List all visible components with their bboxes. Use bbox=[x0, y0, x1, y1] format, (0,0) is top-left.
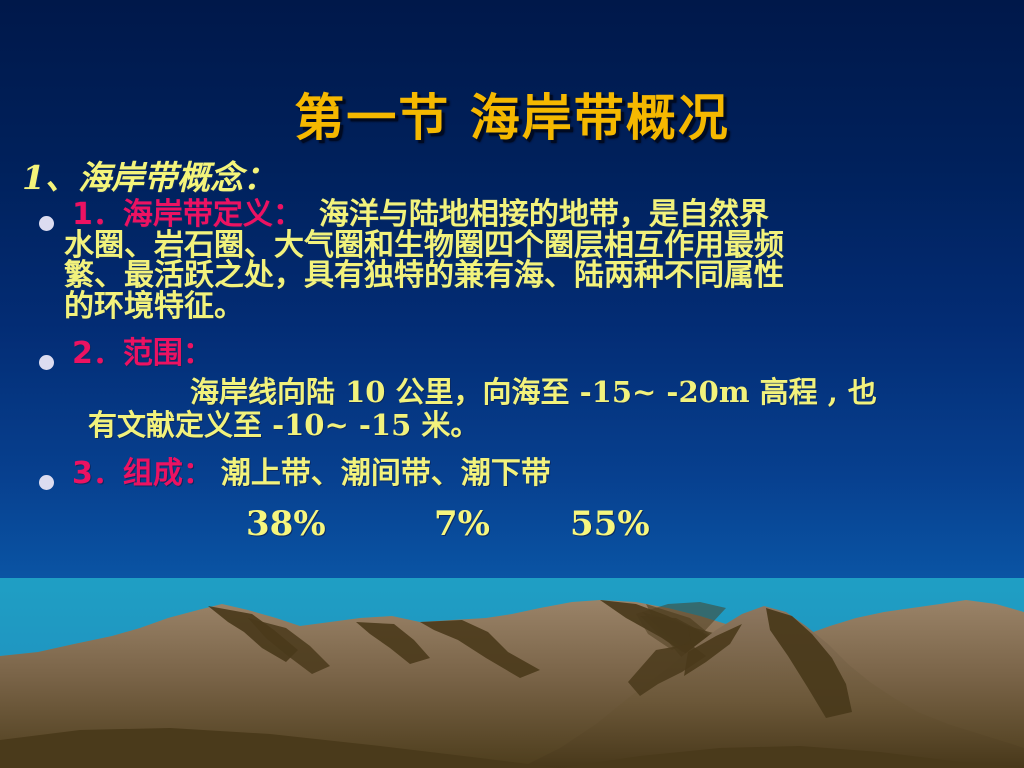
bullet-dot-icon bbox=[39, 475, 54, 490]
definition-line-3: 繁、最活跃之处，具有独特的兼有海、陆两种不同属性 bbox=[64, 261, 1014, 292]
range-detail-line-2: 有文献定义至 -10~ -15 米。 bbox=[88, 409, 1024, 441]
composition-value: 潮上带、潮间带、潮下带 bbox=[221, 456, 551, 491]
definition-line-1: 海洋与陆地相接的地带，是自然界 bbox=[319, 197, 769, 232]
list-item[interactable]: 1．海岸带定义：海洋与陆地相接的地带，是自然界 水圈、岩石圈、大气圈和生物圈四个… bbox=[36, 200, 1024, 324]
definition-line-4: 的环境特征。 bbox=[64, 292, 1014, 323]
coastal-landscape-illustration bbox=[0, 578, 1024, 768]
percent-intertidal: 7% bbox=[434, 504, 490, 544]
slide-body: 1、海岸带概念： 1．海岸带定义：海洋与陆地相接的地带，是自然界 水圈、岩石圈、… bbox=[0, 160, 1024, 550]
bullet-dot-icon bbox=[39, 355, 54, 370]
percentage-row: 38% 7% 55% bbox=[0, 504, 1024, 550]
presentation-slide: 第一节 海岸带概况 1、海岸带概念： 1．海岸带定义：海洋与陆地相接的地带，是自… bbox=[0, 0, 1024, 768]
bullet-dot-icon bbox=[39, 216, 54, 231]
composition-label: 3．组成： bbox=[72, 456, 213, 491]
page-title: 第一节 海岸带概况 bbox=[0, 78, 1024, 150]
composition-block: 3．组成：潮上带、潮间带、潮下带 bbox=[72, 459, 1024, 490]
definition-label: 1．海岸带定义： bbox=[72, 197, 303, 232]
definition-block: 1．海岸带定义：海洋与陆地相接的地带，是自然界 水圈、岩石圈、大气圈和生物圈四个… bbox=[72, 200, 1024, 324]
list-item[interactable]: 2．范围： bbox=[36, 339, 1024, 370]
range-block: 2．范围： bbox=[72, 339, 1024, 370]
landscape-svg bbox=[0, 578, 1024, 768]
definition-line-2: 水圈、岩石圈、大气圈和生物圈四个圈层相互作用最频 bbox=[64, 231, 1014, 262]
section-heading: 1、海岸带概念： bbox=[22, 160, 1024, 196]
list-item[interactable]: 3．组成：潮上带、潮间带、潮下带 bbox=[36, 459, 1024, 490]
percent-supratidal: 38% bbox=[246, 504, 326, 544]
percent-subtidal: 55% bbox=[570, 504, 650, 544]
range-detail-line-1: 海岸线向陆 10 公里，向海至 -15~ -20m 高程 , 也 bbox=[190, 376, 1024, 408]
range-label: 2．范围： bbox=[72, 336, 213, 371]
